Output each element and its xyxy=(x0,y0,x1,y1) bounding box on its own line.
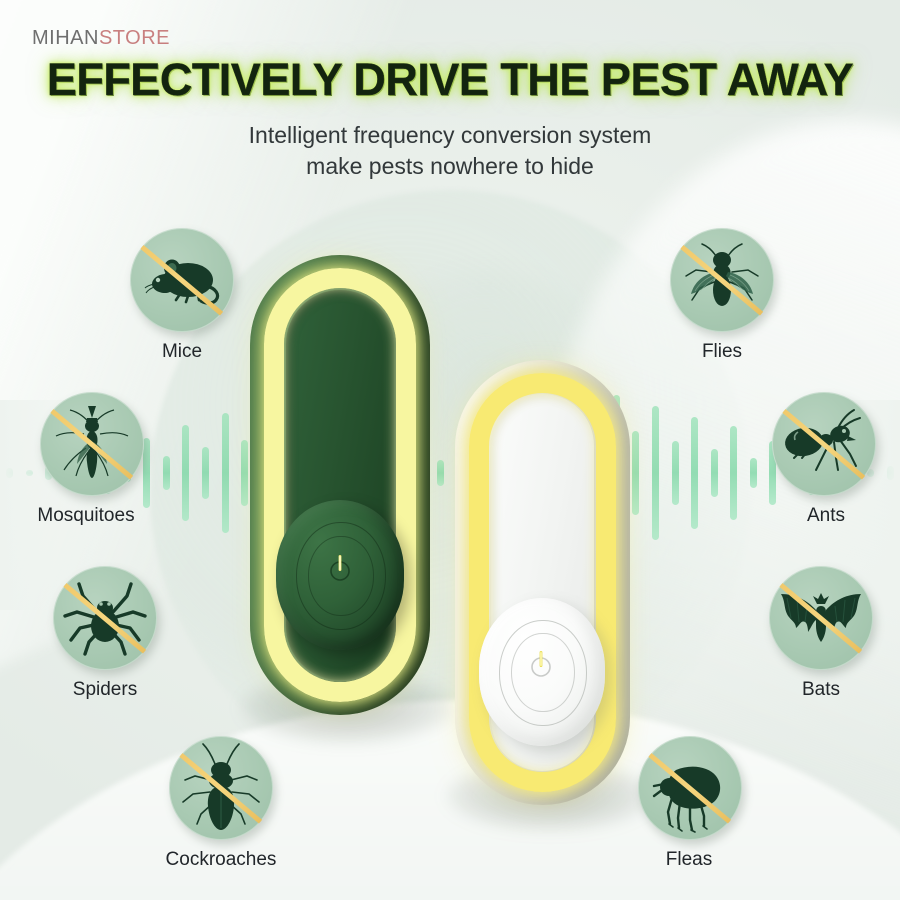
pest-disc xyxy=(769,566,873,670)
soundwave-bar xyxy=(691,417,698,529)
soundwave-bar xyxy=(222,413,229,533)
soundwave-bar xyxy=(182,425,189,521)
pest-label: Bats xyxy=(746,679,896,701)
pest-item-spiders[interactable]: Spiders xyxy=(30,566,180,701)
pest-item-ants[interactable]: Ants xyxy=(749,392,899,527)
subtitle-line-1: Intelligent frequency conversion system xyxy=(0,120,900,151)
page-title: EFFECTIVELY DRIVE THE PEST AWAY xyxy=(0,54,900,106)
device-green-repeller[interactable] xyxy=(250,255,430,715)
brand-logo: MIHANSTORE xyxy=(32,27,170,50)
pest-label: Mosquitoes xyxy=(5,505,167,527)
pest-label: Cockroaches xyxy=(141,849,301,871)
pest-disc xyxy=(638,736,742,840)
pest-label: Spiders xyxy=(30,679,180,701)
soundwave-bar xyxy=(632,431,639,515)
soundwave-bar xyxy=(652,406,659,540)
soundwave-bar xyxy=(241,440,248,506)
pest-disc xyxy=(53,566,157,670)
soundwave-bar xyxy=(437,460,444,486)
pest-disc xyxy=(772,392,876,496)
pest-label: Flies xyxy=(647,341,797,363)
product-banner: MIHANSTORE EFFECTIVELY DRIVE THE PEST AW… xyxy=(0,0,900,900)
pest-item-bats[interactable]: Bats xyxy=(746,566,896,701)
brand-name-primary: MIHAN xyxy=(32,27,99,49)
pest-item-mosquitoes[interactable]: Mosquitoes xyxy=(17,392,167,527)
soundwave-bar xyxy=(730,426,737,520)
brand-name-secondary: STORE xyxy=(99,27,170,49)
power-icon[interactable] xyxy=(527,648,555,678)
pest-item-flies[interactable]: Flies xyxy=(647,228,797,363)
pest-disc xyxy=(670,228,774,332)
pest-item-cockroaches[interactable]: Cockroaches xyxy=(141,736,301,871)
soundwave-bar xyxy=(672,441,679,505)
pest-label: Ants xyxy=(753,505,899,527)
subtitle-line-2: make pests nowhere to hide xyxy=(0,151,900,182)
soundwave-bar xyxy=(202,447,209,499)
pest-item-mice[interactable]: Mice xyxy=(107,228,257,363)
pest-item-fleas[interactable]: Fleas xyxy=(615,736,765,871)
page-subtitle: Intelligent frequency conversion system … xyxy=(0,120,900,182)
soundwave-bar xyxy=(711,449,718,497)
device-white-repeller[interactable] xyxy=(455,360,630,805)
device-button-hub[interactable] xyxy=(479,598,605,746)
device-button-hub[interactable] xyxy=(276,500,404,650)
pest-label: Fleas xyxy=(613,849,765,871)
pest-disc xyxy=(169,736,273,840)
power-icon[interactable] xyxy=(326,552,354,582)
pest-disc xyxy=(40,392,144,496)
pest-label: Mice xyxy=(107,341,257,363)
pest-disc xyxy=(130,228,234,332)
